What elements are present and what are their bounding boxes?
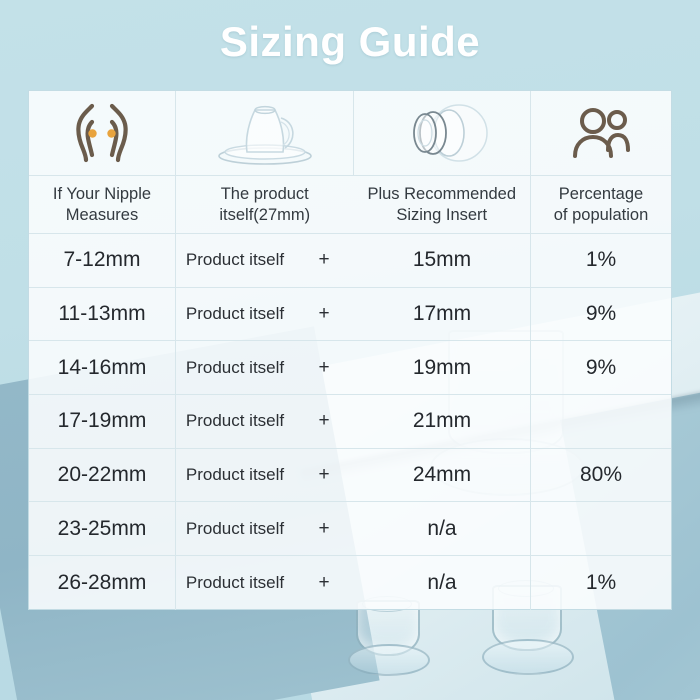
sizing-guide-infographic: Sizing Guide (0, 0, 700, 700)
table-row: 20-22mm Product itself + 24mm 80% (29, 449, 671, 503)
cell-product-group: Product itself + (176, 288, 354, 341)
cell-nipple-range: 23-25mm (29, 502, 176, 555)
header-product-itself-line1: The product (219, 184, 310, 205)
header-sizing-insert: Plus Recommended Sizing Insert (354, 176, 532, 233)
cell-plus-symbol: + (294, 249, 354, 271)
cell-insert-size: 24mm (354, 449, 531, 502)
cell-nipple-range: 11-13mm (29, 288, 176, 341)
cell-percentage: 80% (531, 449, 671, 502)
cell-product-itself: Product itself (176, 411, 294, 431)
cell-product-itself: Product itself (176, 250, 294, 270)
table-row: 14-16mm Product itself + 19mm 9% (29, 341, 671, 395)
cell-percentage (531, 502, 671, 555)
table-row: 23-25mm Product itself + n/a (29, 502, 671, 556)
header-sizing-insert-line2: Sizing Insert (367, 205, 516, 226)
breast-anatomy-icon (29, 91, 176, 175)
header-nipple-measures-line1: If Your Nipple (53, 184, 151, 205)
header-nipple-measures-line2: Measures (53, 205, 151, 226)
cell-insert-size: n/a (354, 502, 531, 555)
cell-percentage: 1% (531, 234, 671, 287)
sizing-table: If Your Nipple Measures The product itse… (28, 90, 672, 610)
header-nipple-measures: If Your Nipple Measures (29, 176, 176, 233)
cell-insert-size: 15mm (354, 234, 531, 287)
cell-product-itself: Product itself (176, 573, 294, 593)
cell-plus-symbol: + (294, 464, 354, 486)
cell-product-group: Product itself + (176, 395, 354, 448)
cell-insert-size: 19mm (354, 341, 531, 394)
cell-plus-symbol: + (294, 410, 354, 432)
cell-nipple-range: 7-12mm (29, 234, 176, 287)
cell-product-group: Product itself + (176, 234, 354, 287)
header-span-product-insert: The product itself(27mm) Plus Recommende… (176, 176, 531, 233)
header-percentage-population: Percentage of population (531, 176, 671, 233)
cell-product-itself: Product itself (176, 465, 294, 485)
header-product-itself: The product itself(27mm) (176, 176, 354, 233)
cell-product-group: Product itself + (176, 341, 354, 394)
table-row: 26-28mm Product itself + n/a 1% (29, 556, 671, 610)
page-title: Sizing Guide (0, 18, 700, 66)
cell-product-group: Product itself + (176, 449, 354, 502)
cell-percentage: 9% (531, 341, 671, 394)
cell-nipple-range: 14-16mm (29, 341, 176, 394)
cell-product-itself: Product itself (176, 519, 294, 539)
cell-product-itself: Product itself (176, 304, 294, 324)
table-row: 11-13mm Product itself + 17mm 9% (29, 288, 671, 342)
cell-product-group: Product itself + (176, 502, 354, 555)
cell-percentage: 1% (531, 556, 671, 610)
header-percentage-line1: Percentage (554, 184, 649, 205)
cell-plus-symbol: + (294, 357, 354, 379)
glass-flange-prop-left (348, 600, 426, 690)
breast-shield-product-icon (176, 91, 354, 175)
table-row: 7-12mm Product itself + 15mm 1% (29, 234, 671, 288)
header-product-itself-line2: itself(27mm) (219, 205, 310, 226)
table-row: 17-19mm Product itself + 21mm (29, 395, 671, 449)
population-people-icon (531, 91, 671, 175)
cell-product-group: Product itself + (176, 556, 354, 610)
cell-product-itself: Product itself (176, 358, 294, 378)
cell-percentage (531, 395, 671, 448)
cell-nipple-range: 20-22mm (29, 449, 176, 502)
cell-nipple-range: 17-19mm (29, 395, 176, 448)
cell-nipple-range: 26-28mm (29, 556, 176, 610)
header-sizing-insert-line1: Plus Recommended (367, 184, 516, 205)
cell-plus-symbol: + (294, 518, 354, 540)
cell-insert-size: 21mm (354, 395, 531, 448)
header-percentage-line2: of population (554, 205, 649, 226)
cell-percentage: 9% (531, 288, 671, 341)
cell-plus-symbol: + (294, 572, 354, 594)
cell-plus-symbol: + (294, 303, 354, 325)
table-icon-row (29, 91, 671, 176)
cell-insert-size: 17mm (354, 288, 531, 341)
sizing-insert-icon (354, 91, 531, 175)
cell-insert-size: n/a (354, 556, 531, 610)
table-header-row: If Your Nipple Measures The product itse… (29, 176, 671, 234)
